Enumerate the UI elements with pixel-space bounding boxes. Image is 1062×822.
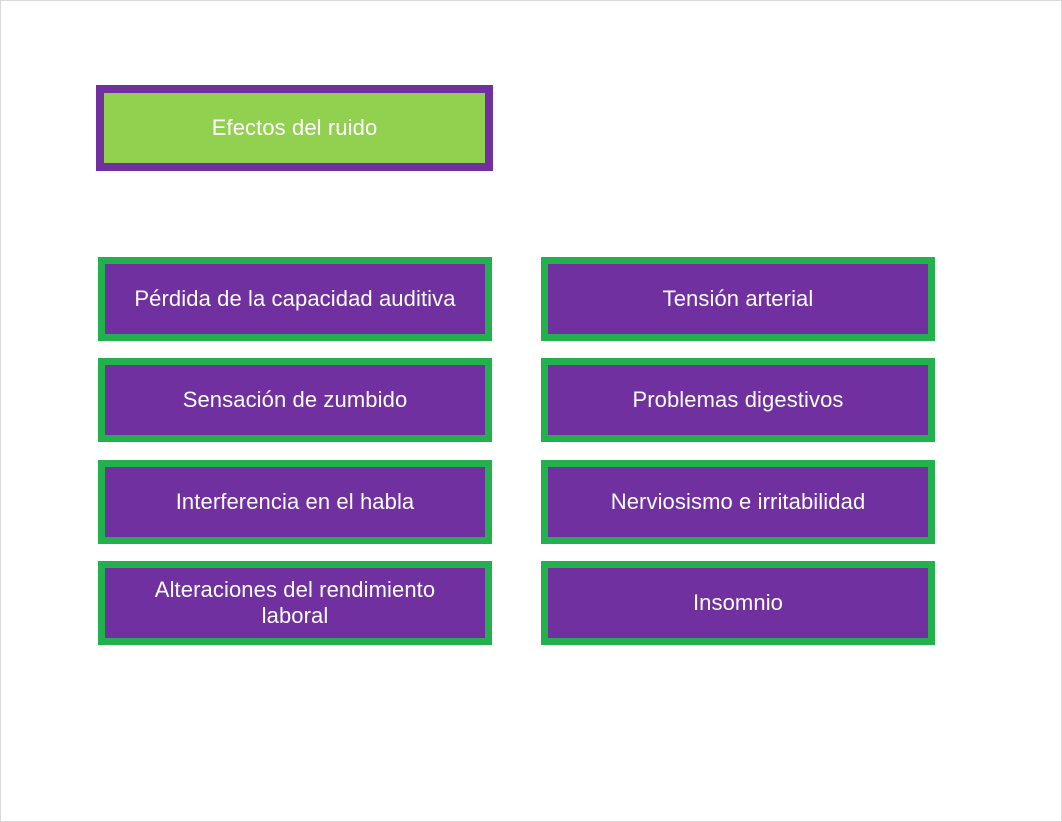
leaf-node-label: Alteraciones del rendimiento laboral [141,577,449,630]
leaf-node-label: Pérdida de la capacidad auditiva [120,286,469,312]
leaf-node-problemas-digestivos[interactable]: Problemas digestivos [541,358,935,442]
leaf-node-nerviosismo-e-irritabilidad[interactable]: Nerviosismo e irritabilidad [541,460,935,544]
leaf-node-sensacion-de-zumbido[interactable]: Sensación de zumbido [98,358,492,442]
leaf-node-alteraciones-del-rendimiento-laboral[interactable]: Alteraciones del rendimiento laboral [98,561,492,645]
leaf-node-insomnio[interactable]: Insomnio [541,561,935,645]
leaf-node-label: Insomnio [679,590,797,616]
leaf-node-label: Nerviosismo e irritabilidad [597,489,880,515]
root-node-label: Efectos del ruido [198,115,392,141]
root-node-efectos-del-ruido[interactable]: Efectos del ruido [96,85,493,171]
leaf-node-label: Interferencia en el habla [162,489,429,515]
leaf-node-label: Sensación de zumbido [169,387,422,413]
leaf-node-label: Problemas digestivos [618,387,857,413]
leaf-node-label: Tensión arterial [649,286,828,312]
leaf-node-perdida-capacidad-auditiva[interactable]: Pérdida de la capacidad auditiva [98,257,492,341]
leaf-node-interferencia-en-el-habla[interactable]: Interferencia en el habla [98,460,492,544]
leaf-node-tension-arterial[interactable]: Tensión arterial [541,257,935,341]
slide-canvas: Efectos del ruido Pérdida de la capacida… [0,0,1062,822]
